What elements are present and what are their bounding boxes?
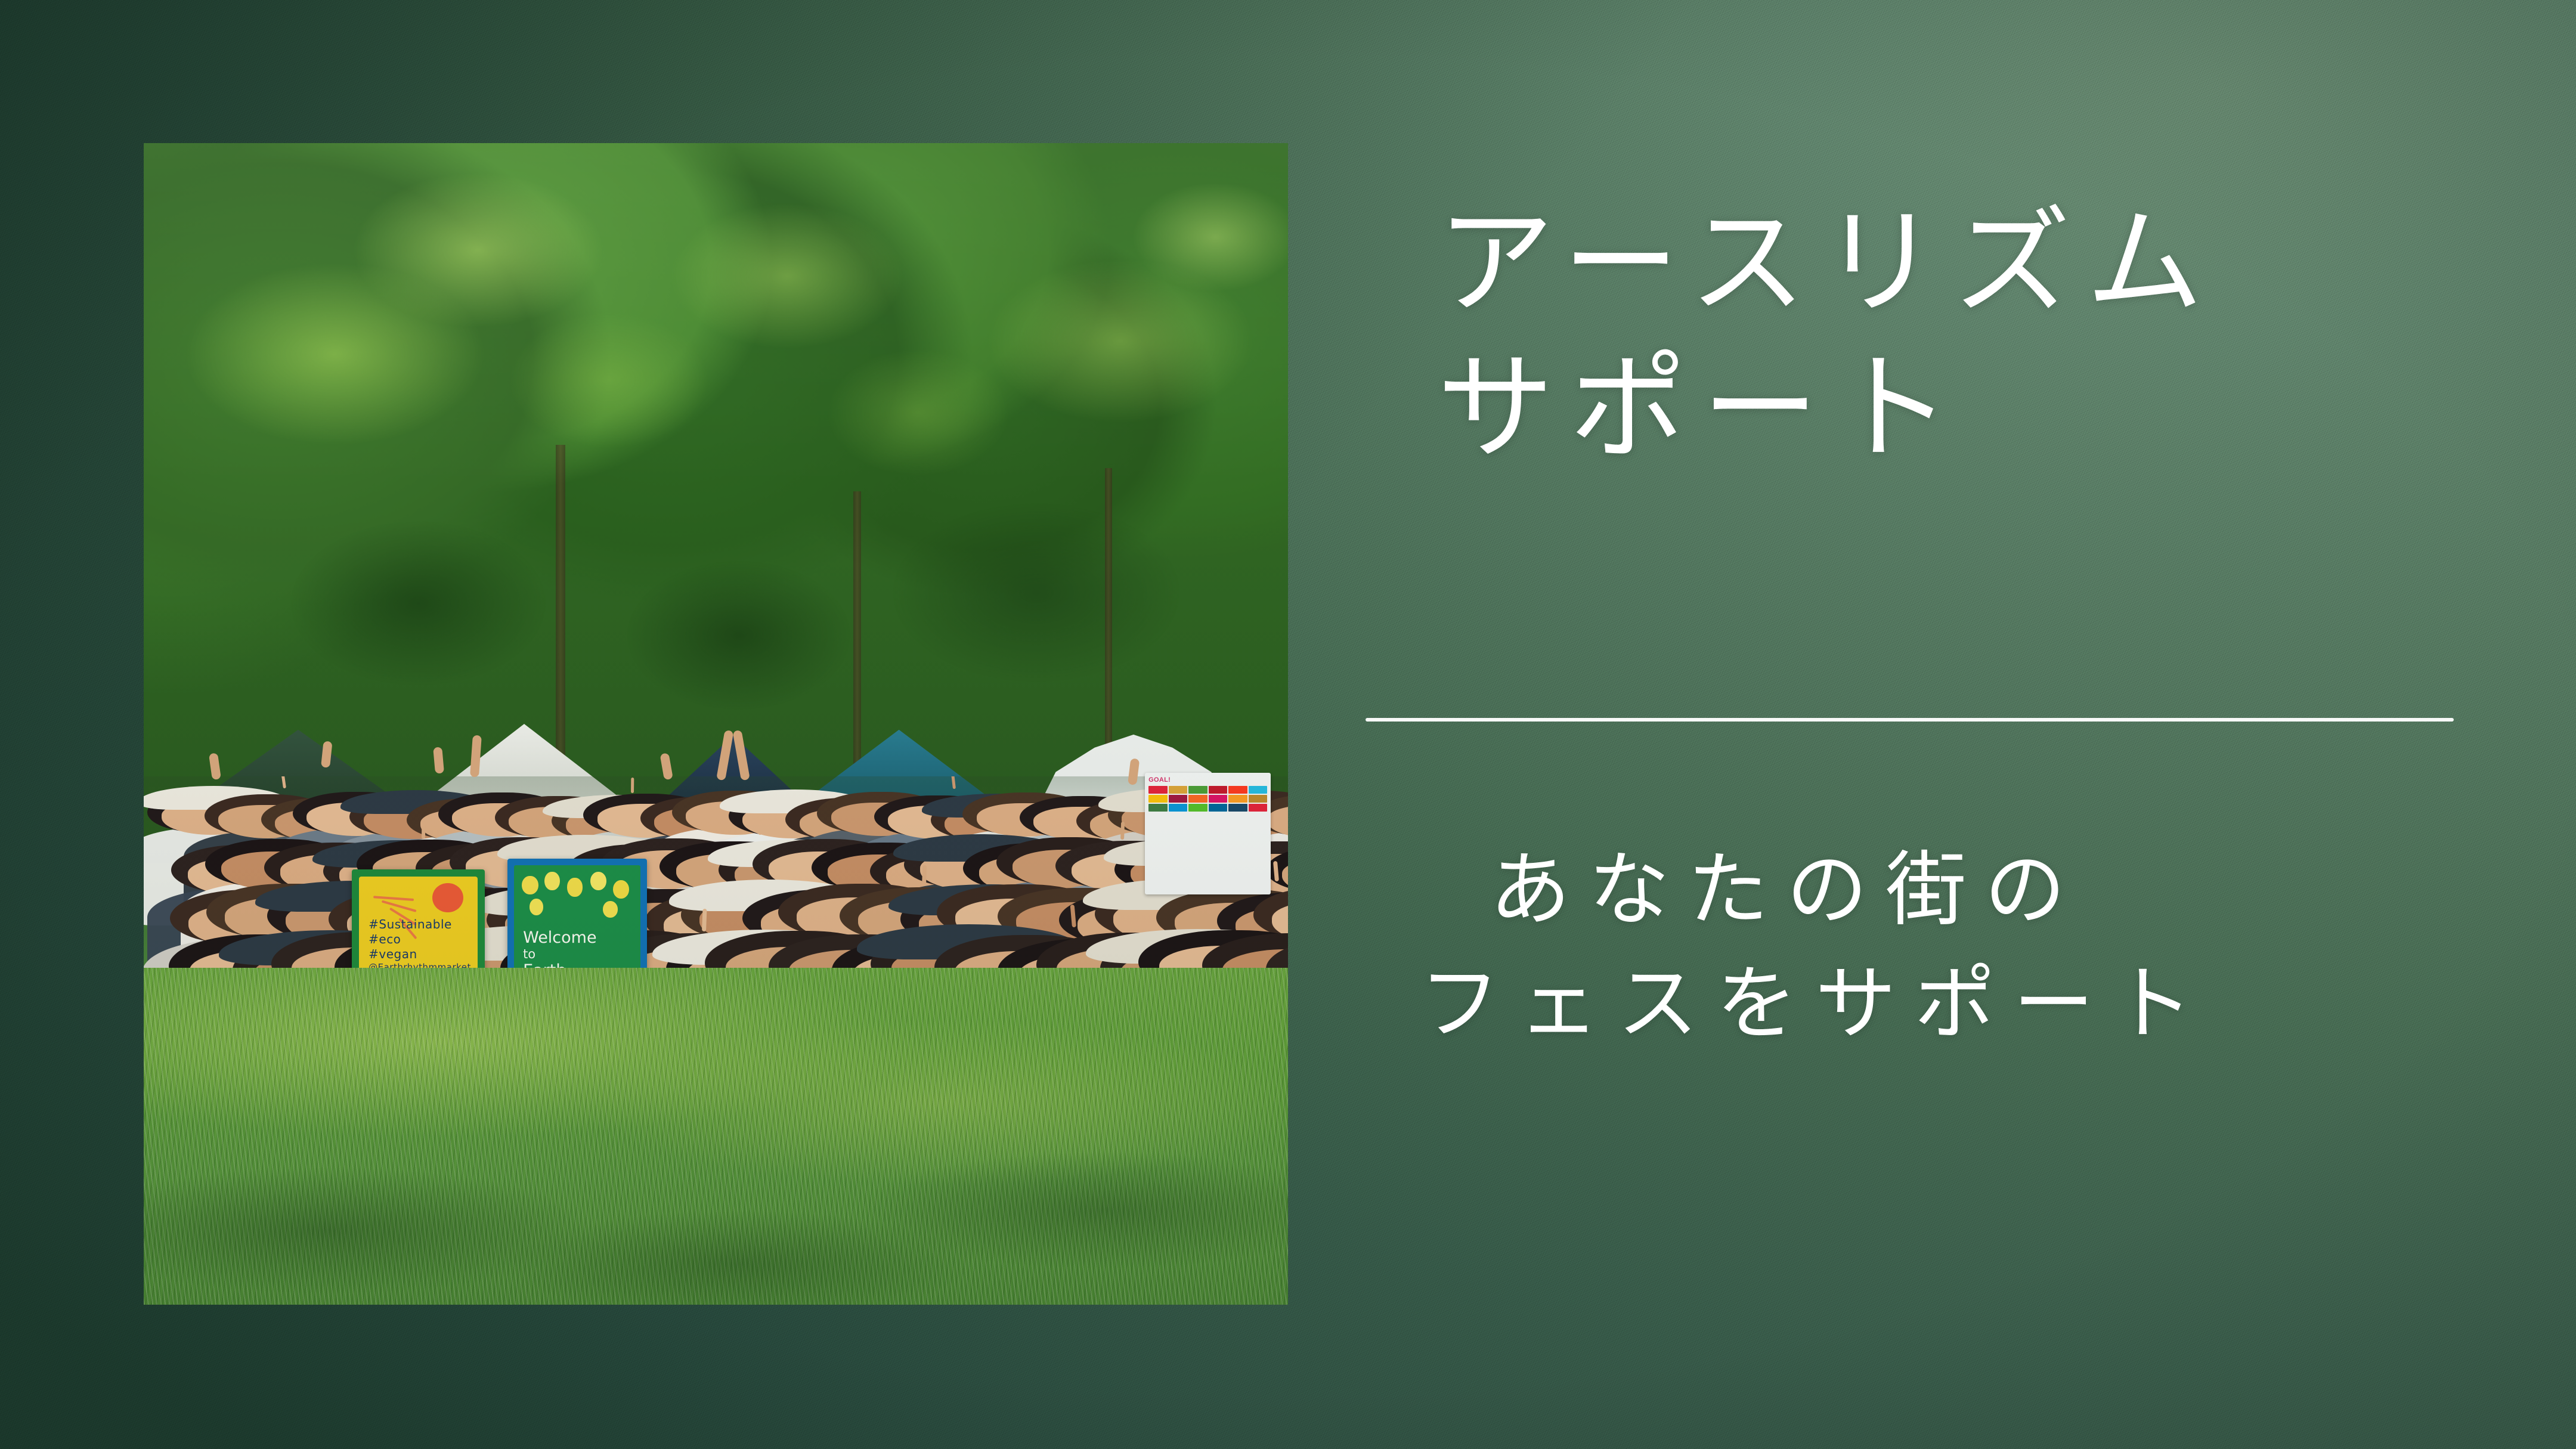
festival-group-photo: #Sustainable #eco #vegan @Earthrhythmmar… (144, 143, 1288, 1305)
sustainable-sign-text: #Sustainable #eco #vegan @Earthrhythmmar… (369, 917, 471, 973)
sdgs-goal-grid (1148, 786, 1267, 812)
slide-canvas: #Sustainable #eco #vegan @Earthrhythmmar… (0, 0, 2576, 1449)
subheadline-block: あなたの街の フェスをサポート (1419, 847, 2552, 1048)
subheadline-line-1: あなたの街の (1490, 847, 2552, 934)
sdgs-poster-title: GOAL! (1148, 776, 1267, 784)
headline-block: アースリズム サポート (1437, 202, 2528, 471)
headline-line-1: アースリズム (1437, 202, 2528, 326)
peace-sign-hand (422, 821, 425, 839)
photo-grass-shadows (144, 968, 1288, 1305)
horizontal-divider (1366, 718, 2454, 722)
sdgs-poster: GOAL! (1145, 773, 1271, 895)
text-column: アースリズム サポート あなたの街の フェスをサポート (1360, 0, 2576, 1449)
sun-icon (432, 883, 463, 912)
headline-line-2: サポート (1437, 347, 2528, 471)
subheadline-line-2: フェスをサポート (1419, 961, 2552, 1048)
peace-sign-hand (631, 778, 634, 793)
